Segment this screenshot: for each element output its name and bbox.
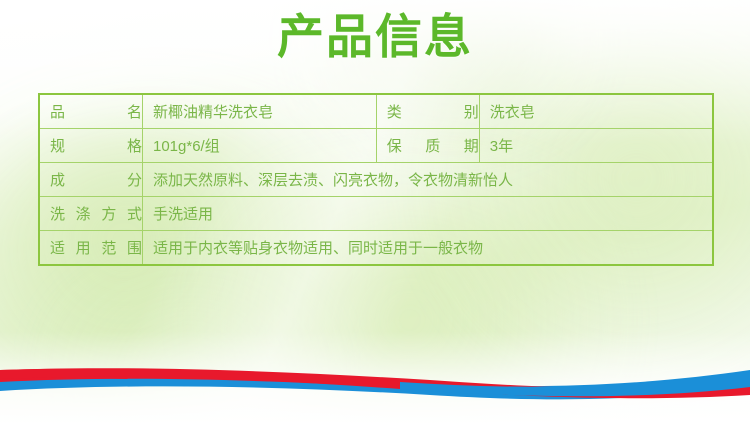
table-row: 规 格 101g*6/组 保质期 3年: [39, 129, 713, 163]
table-row: 适用范围 适用于内衣等贴身衣物适用、同时适用于一般衣物: [39, 231, 713, 266]
spec-value-ingredients: 添加天然原料、深层去渍、闪亮衣物，令衣物清新怡人: [143, 163, 714, 197]
spec-value-shelf-life: 3年: [479, 129, 713, 163]
table-row: 成 分 添加天然原料、深层去渍、闪亮衣物，令衣物清新怡人: [39, 163, 713, 197]
spec-value-specification: 101g*6/组: [143, 129, 377, 163]
bottom-ribbon-decoration: [0, 345, 750, 425]
product-info-page: 产品信息 品 名 新椰油精华洗衣皂 类 别 洗衣皂 规 格 101g*6/组: [0, 0, 750, 425]
table-row: 品 名 新椰油精华洗衣皂 类 别 洗衣皂: [39, 94, 713, 129]
spec-value-product-name: 新椰油精华洗衣皂: [143, 94, 377, 129]
table-row: 洗涤方式 手洗适用: [39, 197, 713, 231]
spec-value-wash-method: 手洗适用: [143, 197, 714, 231]
spec-label-wash-method: 洗涤方式: [39, 197, 143, 231]
spec-value-category: 洗衣皂: [479, 94, 713, 129]
spec-value-scope: 适用于内衣等贴身衣物适用、同时适用于一般衣物: [143, 231, 714, 266]
spec-label-category: 类 别: [376, 94, 479, 129]
spec-label-ingredients: 成 分: [39, 163, 143, 197]
spec-table-body: 品 名 新椰油精华洗衣皂 类 别 洗衣皂 规 格 101g*6/组 保质期 3年: [39, 94, 713, 265]
spec-label-shelf-life: 保质期: [376, 129, 479, 163]
spec-label-product-name: 品 名: [39, 94, 143, 129]
spec-label-scope: 适用范围: [39, 231, 143, 266]
page-title: 产品信息: [0, 6, 750, 68]
spec-label-specification: 规 格: [39, 129, 143, 163]
product-spec-table: 品 名 新椰油精华洗衣皂 类 别 洗衣皂 规 格 101g*6/组 保质期 3年: [38, 93, 714, 266]
